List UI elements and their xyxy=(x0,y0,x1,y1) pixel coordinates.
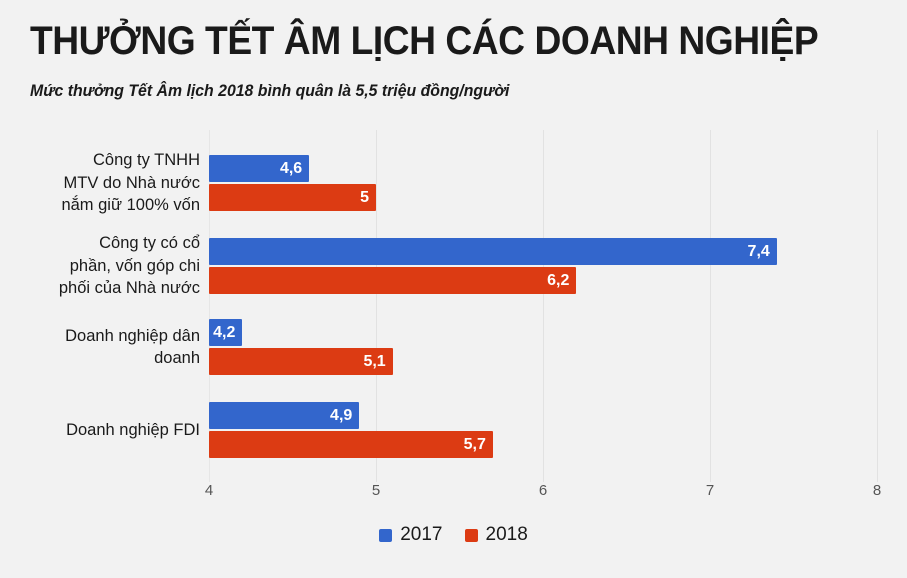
legend-swatch-icon xyxy=(465,529,478,542)
bar-groups: Công ty TNHHMTV do Nhà nướcnắm giữ 100% … xyxy=(0,130,907,482)
bar-value-label: 4,2 xyxy=(213,319,235,346)
bar-rect xyxy=(209,238,777,265)
x-axis-tick-4: 4 xyxy=(205,482,213,499)
category-label: Doanh nghiệp dândoanh xyxy=(0,325,200,370)
bar-value-label: 4,9 xyxy=(330,402,352,429)
x-axis-tick-8: 8 xyxy=(873,482,881,499)
category-label: Doanh nghiệp FDI xyxy=(0,419,200,442)
bar-rect xyxy=(209,431,493,458)
x-axis-tick-6: 6 xyxy=(539,482,547,499)
bar-2018[interactable]: 6,2 xyxy=(209,267,576,294)
bar-value-label: 5 xyxy=(360,184,369,211)
x-axis-tick-7: 7 xyxy=(706,482,714,499)
category-label: Công ty có cổphần, vốn góp chiphối của N… xyxy=(0,232,200,300)
bar-value-label: 5,1 xyxy=(363,348,385,375)
bar-group: Doanh nghiệp dândoanh4,25,1 xyxy=(0,319,907,400)
category-label-line: nắm giữ 100% vốn xyxy=(0,194,200,217)
bar-group: Doanh nghiệp FDI4,95,7 xyxy=(0,402,907,483)
plot-area: Công ty TNHHMTV do Nhà nướcnắm giữ 100% … xyxy=(0,130,907,482)
bar-2017[interactable]: 4,2 xyxy=(209,319,242,346)
category-label-line: doanh xyxy=(0,347,200,370)
category-label-line: Công ty có cổ xyxy=(0,232,200,255)
bar-2017[interactable]: 7,4 xyxy=(209,238,777,265)
category-label-line: Công ty TNHH xyxy=(0,149,200,172)
chart-title: THƯỞNG TẾT ÂM LỊCH CÁC DOANH NGHIỆP xyxy=(30,18,818,64)
bar-2018[interactable]: 5,7 xyxy=(209,431,493,458)
bar-group: Công ty có cổphần, vốn góp chiphối của N… xyxy=(0,238,907,319)
legend-swatch-icon xyxy=(379,529,392,542)
category-label-line: phối của Nhà nước xyxy=(0,277,200,300)
bar-value-label: 5,7 xyxy=(464,431,486,458)
bar-value-label: 7,4 xyxy=(748,238,770,265)
chart-container: THƯỞNG TẾT ÂM LỊCH CÁC DOANH NGHIỆP Mức … xyxy=(0,0,907,578)
category-label-line: Doanh nghiệp dân xyxy=(0,325,200,348)
x-axis-tick-5: 5 xyxy=(372,482,380,499)
category-label: Công ty TNHHMTV do Nhà nướcnắm giữ 100% … xyxy=(0,149,200,217)
chart-legend: 20172018 xyxy=(0,524,907,546)
bar-value-label: 6,2 xyxy=(547,267,569,294)
legend-item-2018[interactable]: 2018 xyxy=(465,524,528,546)
category-label-line: Doanh nghiệp FDI xyxy=(0,419,200,442)
chart-subtitle: Mức thưởng Tết Âm lịch 2018 bình quân là… xyxy=(30,80,509,102)
bar-value-label: 4,6 xyxy=(280,155,302,182)
bar-2017[interactable]: 4,9 xyxy=(209,402,359,429)
x-axis: 45678 xyxy=(0,482,907,512)
category-label-line: MTV do Nhà nước xyxy=(0,172,200,195)
bar-rect xyxy=(209,267,576,294)
legend-label: 2018 xyxy=(486,524,528,546)
category-label-line: phần, vốn góp chi xyxy=(0,255,200,278)
bar-2018[interactable]: 5 xyxy=(209,184,376,211)
legend-label: 2017 xyxy=(400,524,442,546)
bar-2018[interactable]: 5,1 xyxy=(209,348,393,375)
bar-rect xyxy=(209,184,376,211)
legend-item-2017[interactable]: 2017 xyxy=(379,524,442,546)
bar-2017[interactable]: 4,6 xyxy=(209,155,309,182)
bar-group: Công ty TNHHMTV do Nhà nướcnắm giữ 100% … xyxy=(0,155,907,236)
